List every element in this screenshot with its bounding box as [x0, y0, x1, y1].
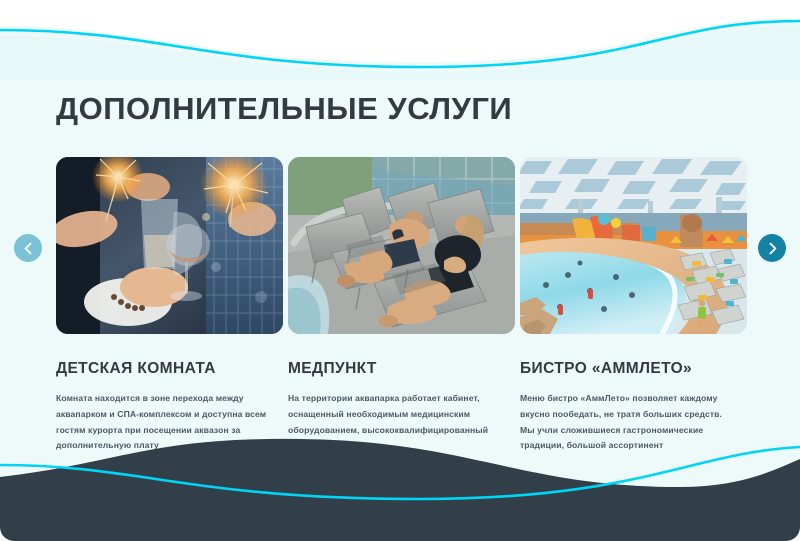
carousel-next-button[interactable] — [758, 234, 786, 262]
service-card[interactable]: БИСТРО «АММЛЕТО» Меню бистро «АммЛето» п… — [520, 157, 747, 454]
people-toasting-with-sparklers-icon — [56, 157, 283, 334]
service-card[interactable]: МЕДПУНКТ На территории аквапарка работае… — [288, 157, 515, 454]
section-title: ДОПОЛНИТЕЛЬНЫЕ УСЛУГИ — [56, 92, 512, 126]
service-card-description: Меню бистро «АммЛето» позволяет каждому … — [520, 391, 735, 455]
chevron-right-icon — [767, 242, 778, 255]
service-card-description: Комната находится в зоне перехода между … — [56, 391, 271, 455]
services-carousel: ДЕТСКАЯ КОМНАТА Комната находится в зоне… — [56, 157, 746, 454]
indoor-waterpark-pool-icon — [520, 157, 747, 334]
service-card-title: ДЕТСКАЯ КОМНАТА — [56, 360, 283, 378]
service-card-image — [520, 157, 747, 334]
service-card-image — [56, 157, 283, 334]
people-on-sun-loungers-by-pool-icon — [288, 157, 515, 334]
service-card-title: БИСТРО «АММЛЕТО» — [520, 360, 747, 378]
service-card-title: МЕДПУНКТ — [288, 360, 515, 378]
top-wave-decoration — [0, 0, 800, 80]
service-card-image — [288, 157, 515, 334]
carousel-prev-button[interactable] — [14, 234, 42, 262]
service-card[interactable]: ДЕТСКАЯ КОМНАТА Комната находится в зоне… — [56, 157, 283, 454]
chevron-left-icon — [23, 242, 34, 255]
promo-page: ДОПОЛНИТЕЛЬНЫЕ УСЛУГИ — [0, 0, 800, 541]
service-card-description: На территории аквапарка работает кабинет… — [288, 391, 503, 455]
